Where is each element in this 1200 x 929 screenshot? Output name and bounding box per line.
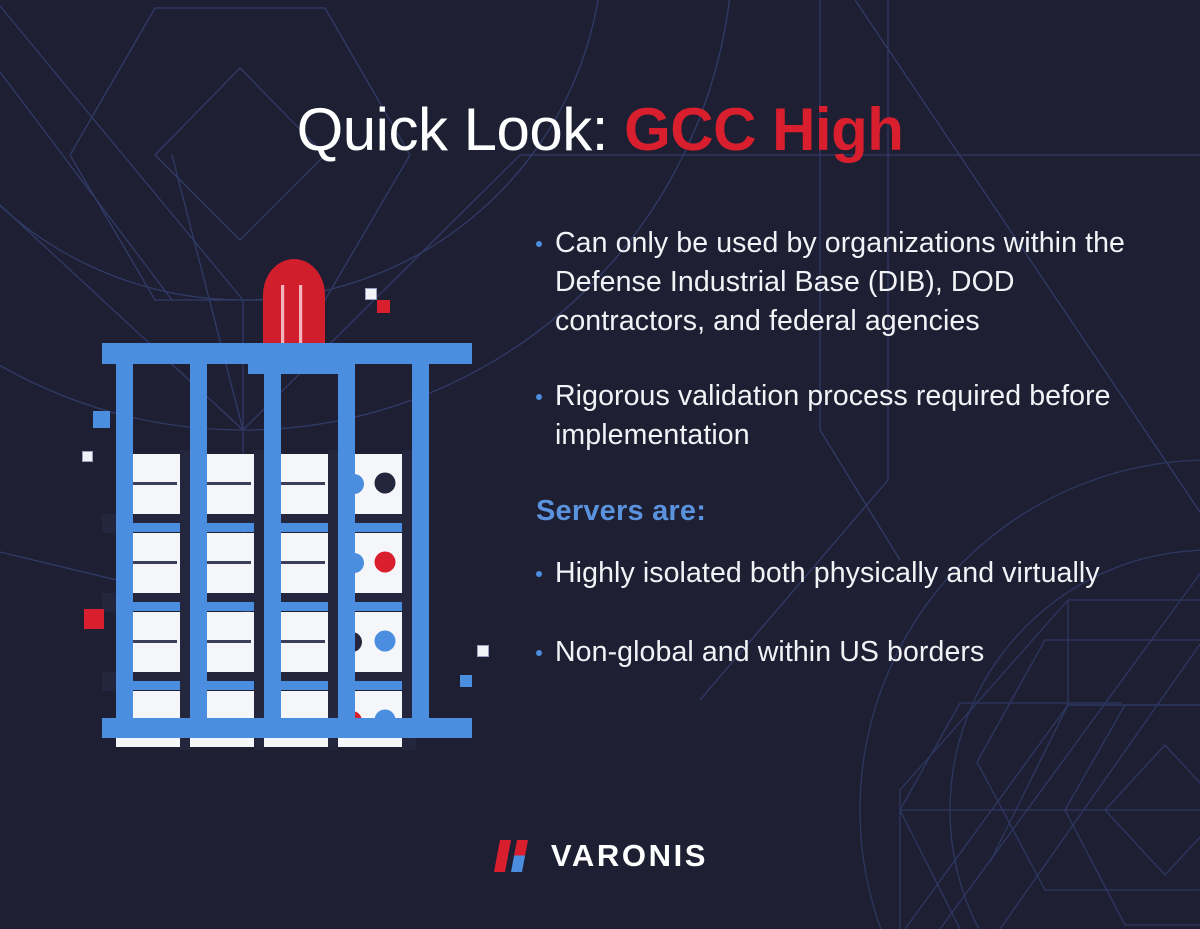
list-item-label: Rigorous validation process required bef… <box>555 377 1136 455</box>
page-title: Quick Look: GCC High <box>0 95 1200 164</box>
varonis-logo: VARONIS <box>0 838 1200 874</box>
content-column: Can only be used by organizations within… <box>536 224 1136 712</box>
square-white-right <box>477 645 489 657</box>
square-blue-right <box>460 675 472 687</box>
bullet-dot-icon <box>536 394 542 400</box>
square-blue-left-upper <box>93 411 110 428</box>
varonis-wordmark: VARONIS <box>551 838 708 874</box>
siren-base-bottom <box>248 364 340 374</box>
siren-highlight-right <box>299 285 302 351</box>
siren-highlight-left <box>281 285 284 351</box>
rack-divider <box>102 672 402 691</box>
siren-dome-icon <box>263 259 325 357</box>
indicator-dot <box>375 631 396 652</box>
indicator-dot <box>375 552 396 573</box>
page-title-prefix: Quick Look: <box>297 96 625 163</box>
bullet-dot-icon <box>536 650 542 656</box>
list-item: Rigorous validation process required bef… <box>536 377 1136 455</box>
rack-top-bar <box>102 343 472 364</box>
list-item-label: Non-global and within US borders <box>555 633 984 672</box>
square-white-left-upper <box>82 451 93 462</box>
rack-divider <box>102 514 402 533</box>
square-red-top-mid <box>377 300 390 313</box>
list-item-label: Highly isolated both physically and virt… <box>555 554 1100 593</box>
square-red-left-lower <box>84 609 104 629</box>
server-rack-illustration <box>60 250 500 750</box>
rack-divider <box>102 593 402 612</box>
infographic-canvas: Quick Look: GCC High <box>0 0 1200 929</box>
list-item: Non-global and within US borders <box>536 633 1136 672</box>
server-units <box>102 450 416 750</box>
bullet-group-primary: Can only be used by organizations within… <box>536 224 1136 455</box>
bullet-dot-icon <box>536 241 542 247</box>
list-item-label: Can only be used by organizations within… <box>555 224 1136 341</box>
list-item: Can only be used by organizations within… <box>536 224 1136 341</box>
bullet-dot-icon <box>536 571 542 577</box>
bullet-group-secondary: Highly isolated both physically and virt… <box>536 554 1136 672</box>
rack-bottom-bar <box>102 718 472 738</box>
square-white-top-mid <box>365 288 377 300</box>
page-title-accent: GCC High <box>624 96 903 163</box>
section-heading: Servers are: <box>536 495 1136 528</box>
varonis-mark-icon <box>492 839 540 873</box>
list-item: Highly isolated both physically and virt… <box>536 554 1136 593</box>
indicator-dot <box>375 473 396 494</box>
